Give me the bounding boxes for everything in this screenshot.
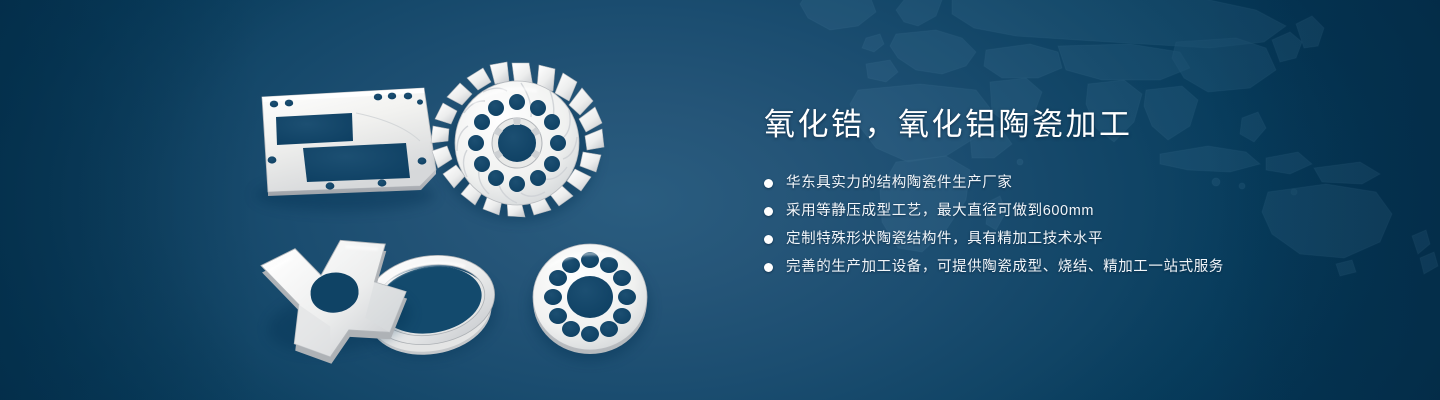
bullet-dot-icon: [764, 207, 773, 216]
feature-text: 华东具实力的结构陶瓷件生产厂家: [786, 172, 1013, 194]
hero-banner: 氧化锆，氧化铝陶瓷加工 华东具实力的结构陶瓷件生产厂家 采用等静压成型工艺，最大…: [0, 0, 1440, 400]
bullet-dot-icon: [764, 179, 773, 188]
page-title: 氧化锆，氧化铝陶瓷加工: [764, 104, 1384, 146]
bullet-dot-icon: [764, 235, 773, 244]
feature-text: 定制特殊形状陶瓷结构件，具有精加工技术水平: [786, 228, 1103, 250]
feature-list: 华东具实力的结构陶瓷件生产厂家 采用等静压成型工艺，最大直径可做到600mm 定…: [764, 172, 1384, 278]
list-item: 采用等静压成型工艺，最大直径可做到600mm: [764, 200, 1384, 222]
list-item: 定制特殊形状陶瓷结构件，具有精加工技术水平: [764, 228, 1384, 250]
feature-text: 采用等静压成型工艺，最大直径可做到600mm: [786, 200, 1094, 222]
bullet-dot-icon: [764, 263, 773, 272]
feature-text: 完善的生产加工设备，可提供陶瓷成型、烧结、精加工一站式服务: [786, 256, 1224, 278]
banner-copy: 氧化锆，氧化铝陶瓷加工 华东具实力的结构陶瓷件生产厂家 采用等静压成型工艺，最大…: [764, 104, 1384, 278]
list-item: 完善的生产加工设备，可提供陶瓷成型、烧结、精加工一站式服务: [764, 256, 1384, 278]
list-item: 华东具实力的结构陶瓷件生产厂家: [764, 172, 1384, 194]
